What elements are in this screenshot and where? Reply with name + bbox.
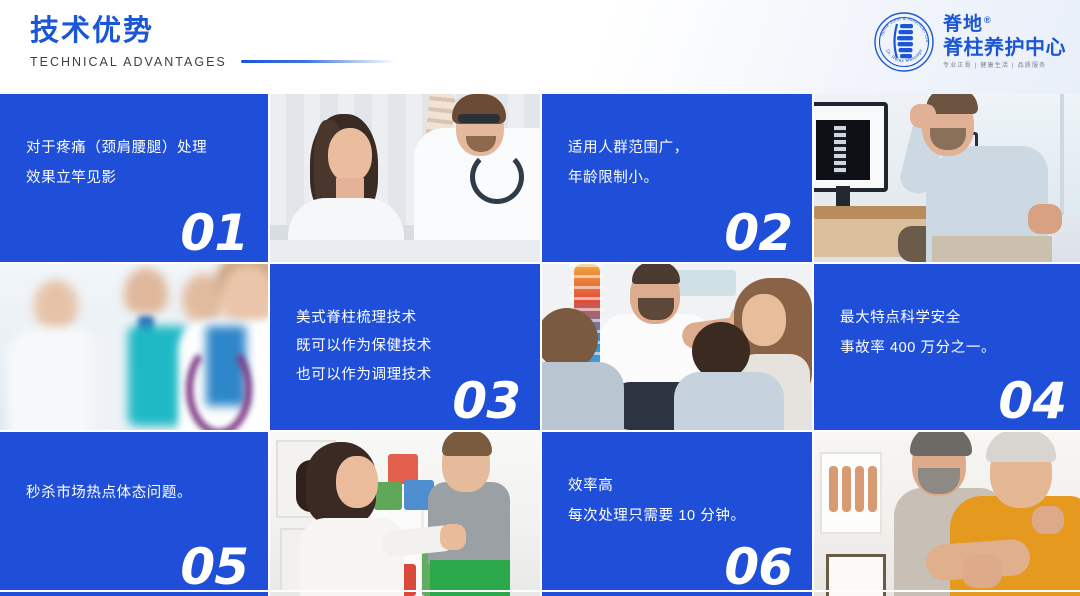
- advantage-card-06[interactable]: 效率高 每次处理只需要 10 分钟。 06: [542, 432, 812, 596]
- header-title-block: 技术优势 TECHNICAL ADVANTAGES: [30, 16, 396, 69]
- advantage-number-02: 02: [724, 208, 792, 258]
- advantage-photo-03: [0, 264, 268, 430]
- advantage-line: 美式脊柱梳理技术: [296, 304, 514, 332]
- advantage-number-03: 03: [452, 376, 520, 426]
- advantage-line: 效果立竿见影: [26, 164, 242, 194]
- advantage-photo-06: [814, 432, 1080, 596]
- advantage-line: 对于疼痛（颈肩腰腿）处理: [26, 134, 242, 164]
- page-subtitle: TECHNICAL ADVANTAGES: [30, 55, 227, 69]
- advantage-number-06: 06: [724, 542, 792, 592]
- advantage-line: 秒杀市场热点体态问题。: [26, 479, 242, 509]
- advantage-text-01: 对于疼痛（颈肩腰腿）处理 效果立竿见影: [26, 134, 242, 193]
- advantage-card-03[interactable]: 美式脊柱梳理技术 既可以作为保健技术 也可以作为调理技术 03: [270, 264, 540, 430]
- advantage-card-01[interactable]: 对于疼痛（颈肩腰腿）处理 效果立竿见影 01: [0, 94, 268, 262]
- advantage-photo-05: [270, 432, 540, 596]
- advantage-line: 效率高: [568, 472, 786, 502]
- slide-header: 技术优势 TECHNICAL ADVANTAGES: [0, 0, 1080, 94]
- advantage-number-01: 01: [180, 208, 248, 258]
- advantage-photo-04: [542, 264, 812, 430]
- advantage-photo-02: [814, 94, 1080, 262]
- advantage-line: 每次处理只需要 10 分钟。: [568, 502, 786, 532]
- logo-name-cn: 脊柱养护中心: [943, 38, 1066, 58]
- advantage-line: 事故率 400 万分之一。: [840, 334, 1060, 364]
- registered-mark-icon: ®: [984, 16, 992, 25]
- slide-root: 技术优势 TECHNICAL ADVANTAGES: [0, 0, 1080, 592]
- advantage-text-06: 效率高 每次处理只需要 10 分钟。: [568, 472, 786, 531]
- advantage-text-02: 适用人群范围广， 年龄限制小。: [568, 134, 786, 193]
- logo-brand-row: 脊地 ®: [943, 15, 1066, 34]
- logo-brand-cn: 脊地: [943, 15, 983, 34]
- advantage-number-04: 04: [998, 376, 1066, 426]
- advantage-line: 年龄限制小。: [568, 164, 786, 194]
- subtitle-row: TECHNICAL ADVANTAGES: [30, 55, 396, 69]
- advantage-number-05: 05: [180, 542, 248, 592]
- advantage-line: 既可以作为保健技术: [296, 332, 514, 360]
- advantage-text-05: 秒杀市场热点体态问题。: [26, 479, 242, 509]
- title-underline-rule: [241, 60, 396, 63]
- logo-text-block: 脊地 ® 脊柱养护中心 专业正骨 | 健康生活 | 品质服务: [943, 15, 1066, 69]
- advantage-card-04[interactable]: 最大特点科学安全 事故率 400 万分之一。 04: [814, 264, 1080, 430]
- advantages-grid: 对于疼痛（颈肩腰腿）处理 效果立竿见影 01: [0, 94, 1080, 592]
- advantage-text-04: 最大特点科学安全 事故率 400 万分之一。: [840, 304, 1060, 363]
- spine-emblem-icon: Spine Joint & American Chiropractic Dr. …: [873, 11, 935, 73]
- advantage-card-05[interactable]: 秒杀市场热点体态问题。 05: [0, 432, 268, 596]
- advantage-photo-01: [270, 94, 540, 262]
- page-title: 技术优势: [30, 16, 396, 48]
- advantage-card-02[interactable]: 适用人群范围广， 年龄限制小。 02: [542, 94, 812, 262]
- advantage-line: 最大特点科学安全: [840, 304, 1060, 334]
- advantage-line: 适用人群范围广，: [568, 134, 786, 164]
- logo-tagline: 专业正骨 | 健康生活 | 品质服务: [943, 63, 1066, 69]
- brand-logo: Spine Joint & American Chiropractic Dr. …: [873, 11, 1066, 73]
